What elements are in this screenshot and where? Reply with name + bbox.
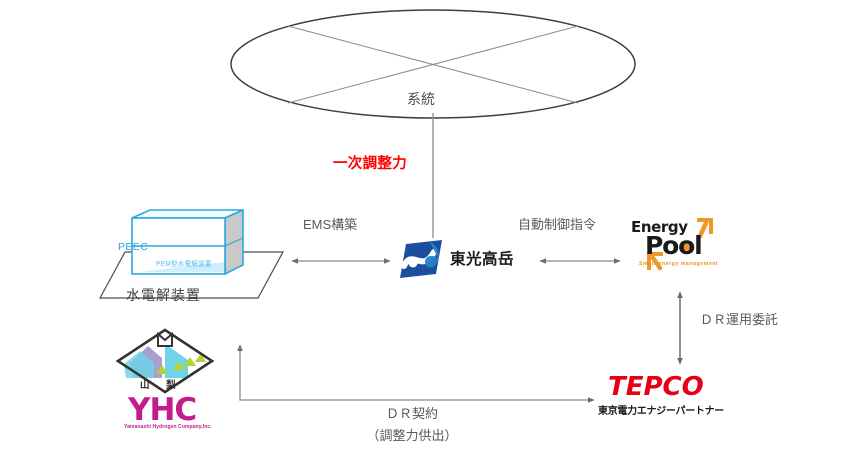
dr-operation-entrustment-label: ＤＲ運用委託 bbox=[700, 311, 778, 329]
toko-takaoka-node: 東光高岳 bbox=[398, 238, 533, 278]
auto-control-command-label: 自動制御指令 bbox=[518, 216, 596, 234]
yhc-mark: YHC bbox=[128, 392, 196, 428]
tepco-node: TEPCO 東京電力エナジーパートナー bbox=[598, 372, 748, 414]
tepco-mark: TEPCO bbox=[608, 372, 704, 402]
tepco-sub-label: 東京電力エナジーパートナー bbox=[598, 402, 724, 417]
energy-pool-word-bottom: Pool bbox=[645, 231, 701, 260]
primary-reserve-label: 一次調整力 bbox=[333, 155, 407, 175]
electrolyzer-node: PEEC PEM型水電解装置 水電解装置 bbox=[88, 205, 288, 315]
arrow-yhc-tepco bbox=[240, 345, 594, 400]
yamanashi-node: 山 梨 bbox=[118, 330, 212, 392]
energy-pool-tagline: Smart energy management bbox=[639, 261, 718, 267]
yamanashi-label: 山 梨 bbox=[140, 377, 183, 391]
electrolyzer-unit-sub-label: PEM型水電解装置 bbox=[156, 258, 212, 269]
grid-label: 系統 bbox=[407, 90, 435, 109]
dr-contract-label-line2: （調整力供出） bbox=[352, 427, 472, 445]
electrolyzer-base-label: 水電解装置 bbox=[126, 285, 201, 305]
toko-takaoka-name: 東光高岳 bbox=[450, 247, 514, 269]
ems-construction-label: EMS構築 bbox=[303, 216, 357, 234]
dr-contract-label-line1: ＤＲ契約 bbox=[352, 405, 472, 423]
diagram-canvas: 系統 一次調整力 EMS構築 自動制御指令 ＤＲ運用委託 ＤＲ契約 （調整力供出… bbox=[0, 0, 843, 470]
electrolyzer-unit-label: PEEC bbox=[118, 241, 148, 253]
yhc-tagline: Yamanashi Hydrogen Company,Inc. bbox=[124, 424, 212, 430]
yhc-node: YHC Yamanashi Hydrogen Company,Inc. bbox=[118, 392, 222, 434]
energy-pool-node: Energy Pool Smart energy management bbox=[627, 218, 735, 278]
